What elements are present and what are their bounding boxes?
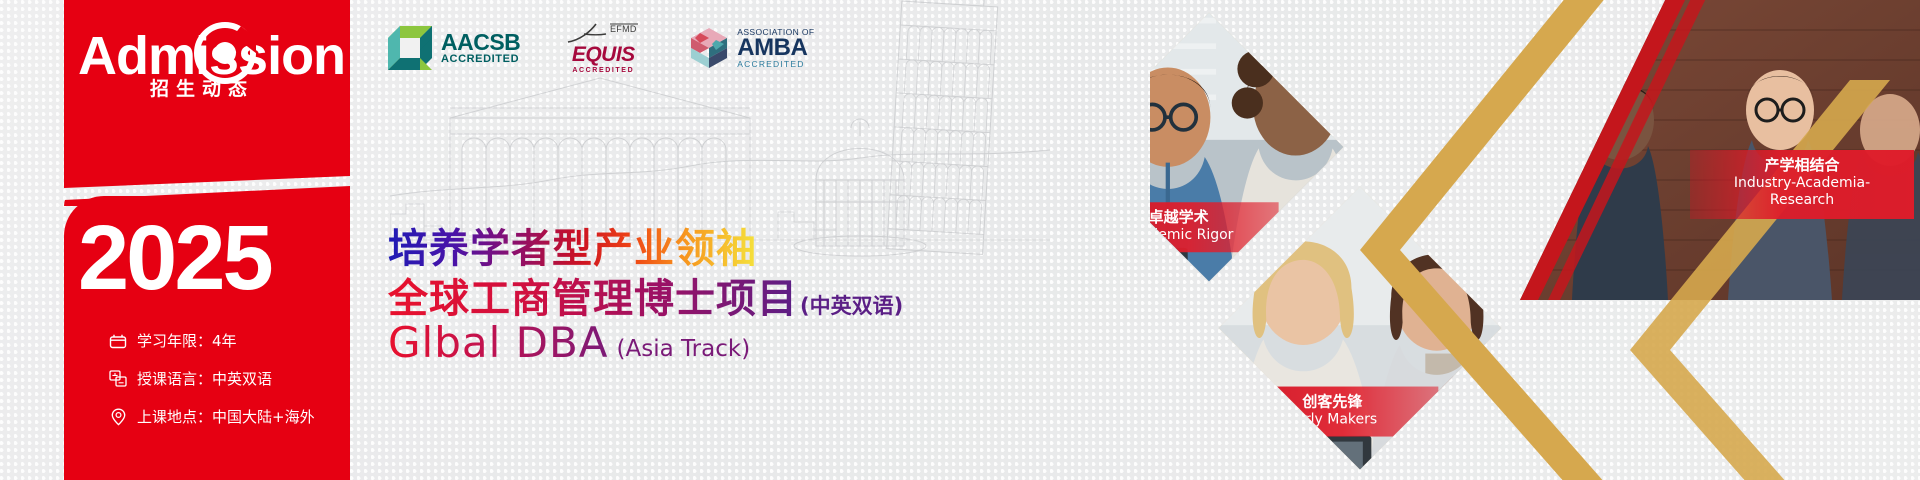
aacsb-mark-icon (386, 24, 434, 72)
equis-label-main: EQUIS (572, 44, 635, 65)
program-title-cn-main: 全球工商管理博士项目 (388, 266, 798, 324)
aacsb-logo: AACSB ACCREDITED (386, 24, 520, 72)
amba-logo: ASSOCIATION OF AMBA ACCREDITED (686, 26, 814, 70)
info-row-location: 上课地点：中国大陆+海外 (108, 406, 358, 427)
language-icon (108, 369, 128, 389)
feature-label-early-makers: 创客先锋 Early Makers (1227, 386, 1439, 436)
program-title-en-main: Glbal DBA (388, 318, 609, 367)
feature-label-academic-rigor: 卓越学术 Academic Rigor (1150, 202, 1279, 252)
feature-label-en-line1: Industry-Academia- (1696, 175, 1908, 193)
info-text-location: 上课地点：中国大陆+海外 (137, 406, 315, 427)
program-title-cn-suffix: (中英双语) (800, 290, 903, 324)
info-row-duration: 学习年限：4年 (108, 330, 358, 351)
info-row-language: 授课语言：中英双语 (108, 368, 358, 389)
program-title-en: Glbal DBA (Asia Track) (388, 318, 750, 367)
year-label: 2025 (78, 212, 271, 304)
feature-label-cn: 卓越学术 (1150, 208, 1275, 227)
program-title-en-suffix: (Asia Track) (617, 336, 751, 367)
feature-label-en: Early Makers (1231, 411, 1435, 429)
equis-label-sub: ACCREDITED (572, 67, 635, 74)
info-text-language: 授课语言：中英双语 (137, 368, 272, 389)
aacsb-label-main: AACSB (441, 31, 520, 54)
calendar-icon (108, 331, 128, 351)
feature-label-industry-academia[interactable]: 产学相结合 Industry-Academia- Research (1690, 150, 1914, 219)
feature-tiles: 卓越学术 Academic Rigor (1150, 0, 1920, 480)
info-text-duration: 学习年限：4年 (137, 330, 237, 351)
feature-label-en-line2: Research (1696, 192, 1908, 210)
admission-target-icon (194, 22, 256, 84)
admission-banner: AACSB ACCREDITED EFMD EQUIS ACCREDITED (0, 0, 1920, 480)
efmd-swoosh-icon: EFMD (566, 22, 640, 44)
amba-label-sub: ACCREDITED (737, 60, 814, 69)
svg-text:EFMD: EFMD (610, 24, 637, 34)
feature-label-en: Academic Rigor (1150, 227, 1275, 245)
feature-label-cn: 产学相结合 (1696, 156, 1908, 175)
aacsb-label-sub: ACCREDITED (441, 54, 520, 65)
program-title-cn: 全球工商管理博士项目 (中英双语) (388, 266, 903, 324)
location-pin-icon (108, 407, 128, 427)
amba-diamond-icon (686, 26, 732, 70)
feature-label-cn: 创客先锋 (1231, 392, 1435, 411)
accreditation-logos: AACSB ACCREDITED EFMD EQUIS ACCREDITED (386, 22, 815, 74)
amba-label-main: AMBA (737, 36, 814, 60)
equis-logo: EFMD EQUIS ACCREDITED (566, 22, 640, 74)
program-info-list: 学习年限：4年 授课语言：中英双语 上课地点：中国大陆+海外 (108, 330, 358, 444)
